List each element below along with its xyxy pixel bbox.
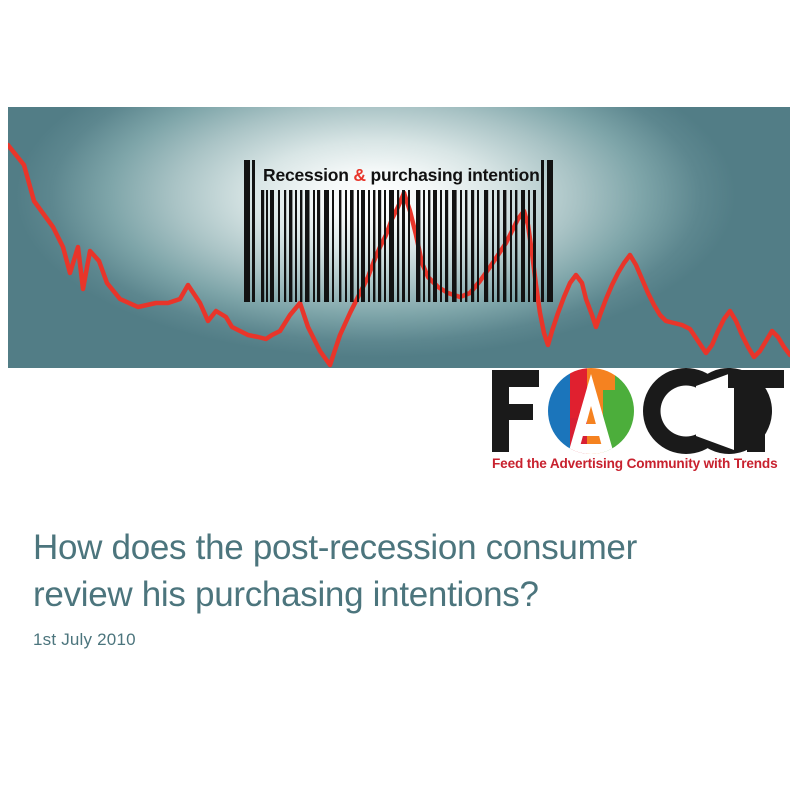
barcode-title-ampersand: & — [353, 165, 365, 185]
barcode-graphic: Recession & purchasing intention — [240, 160, 560, 302]
page-title-line-1: How does the post-recession consumer — [33, 524, 763, 571]
fact-logo-mark — [490, 368, 786, 454]
fact-logo: Feed the Advertising Community with Tren… — [490, 368, 798, 480]
page-title-line-2: review his purchasing intentions? — [33, 571, 763, 618]
barcode-title-part1: Recession — [263, 165, 353, 185]
logo-letter-a — [548, 368, 636, 454]
barcode-title: Recession & purchasing intention — [263, 162, 543, 188]
presentation-date: 1st July 2010 — [33, 630, 136, 650]
logo-letter-f — [492, 370, 539, 452]
fact-logo-tagline: Feed the Advertising Community with Tren… — [492, 456, 798, 471]
page-title: How does the post-recession consumer rev… — [33, 524, 763, 618]
barcode-title-part2: purchasing intention — [366, 165, 540, 185]
